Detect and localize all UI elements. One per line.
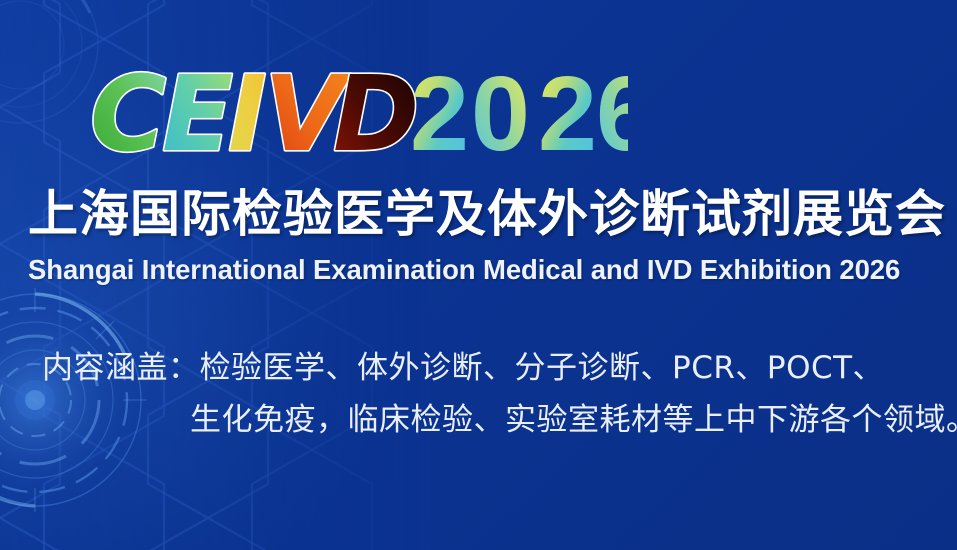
logo-year-2b: 2: [538, 58, 595, 170]
ceivd-logo-svg: C E I V D 2 0 2 6: [88, 58, 628, 170]
scope-line-1: 内容涵盖：检验医学、体外诊断、分子诊断、PCR、POCT、: [42, 342, 932, 394]
logo-letter-i: I: [228, 58, 267, 170]
scope-description: 内容涵盖：检验医学、体外诊断、分子诊断、PCR、POCT、 生化免疫，临床检验、…: [42, 342, 932, 446]
scope-line-2: 生化免疫，临床检验、实验室耗材等上中下游各个领域。: [42, 394, 932, 446]
logo-year-2: 2: [410, 58, 467, 170]
ceivd-banner: C E I V D 2 0 2 6 上海国际检验医学及体外诊断试剂展览会 Sha…: [0, 0, 957, 550]
ceivd-logo: C E I V D 2 0 2 6: [88, 58, 628, 170]
logo-letter-c: C: [90, 58, 166, 170]
logo-letter-e: E: [162, 58, 233, 170]
logo-year-6: 6: [596, 58, 628, 170]
page-title-chinese: 上海国际检验医学及体外诊断试剂展览会: [28, 186, 928, 242]
page-title-english: Shangai International Examination Medica…: [28, 254, 928, 286]
logo-letter-d: D: [333, 58, 419, 170]
logo-year-0: 0: [471, 58, 528, 170]
